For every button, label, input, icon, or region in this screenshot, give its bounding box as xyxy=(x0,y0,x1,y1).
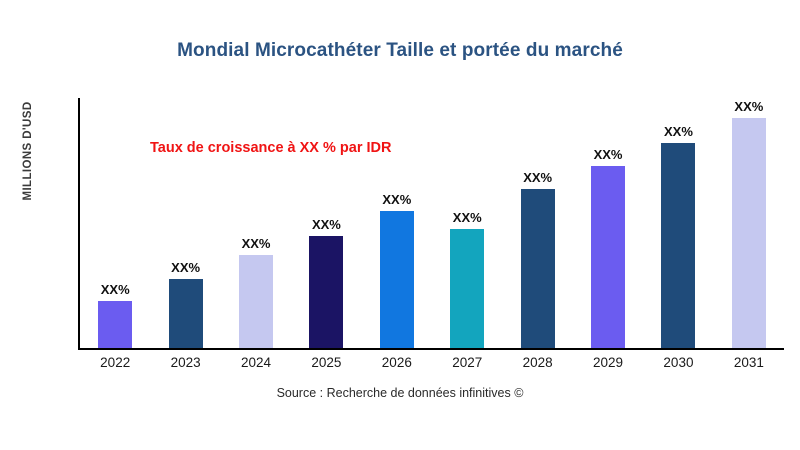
bar-2030[interactable] xyxy=(661,143,695,348)
x-tick-2026: 2026 xyxy=(362,355,432,370)
bar-2028[interactable] xyxy=(521,189,555,348)
bar-group: XX% xyxy=(221,98,291,348)
bar-group: XX% xyxy=(573,98,643,348)
bar-2024[interactable] xyxy=(239,255,273,348)
x-tick-2025: 2025 xyxy=(291,355,361,370)
bar-2029[interactable] xyxy=(591,166,625,348)
bar-value-label: XX% xyxy=(312,218,341,231)
bar-group: XX% xyxy=(432,98,502,348)
bar-value-label: XX% xyxy=(664,125,693,138)
bar-group: XX% xyxy=(291,98,361,348)
x-axis-tick-labels: 2022202320242025202620272028202920302031 xyxy=(80,355,784,370)
source-note: Source : Recherche de données infinitive… xyxy=(0,386,800,400)
bar-value-label: XX% xyxy=(382,193,411,206)
x-tick-2024: 2024 xyxy=(221,355,291,370)
bar-2031[interactable] xyxy=(732,118,766,348)
bar-2023[interactable] xyxy=(169,279,203,348)
bar-group: XX% xyxy=(80,98,150,348)
x-tick-2023: 2023 xyxy=(150,355,220,370)
bar-2025[interactable] xyxy=(309,236,343,348)
x-tick-2031: 2031 xyxy=(714,355,784,370)
bar-2022[interactable] xyxy=(98,301,132,348)
bar-value-label: XX% xyxy=(453,211,482,224)
bar-value-label: XX% xyxy=(242,237,271,250)
bar-group: XX% xyxy=(502,98,572,348)
bar-value-label: XX% xyxy=(594,148,623,161)
bar-value-label: XX% xyxy=(734,100,763,113)
bar-2026[interactable] xyxy=(380,211,414,348)
x-tick-2028: 2028 xyxy=(502,355,572,370)
x-tick-2029: 2029 xyxy=(573,355,643,370)
x-axis-line xyxy=(78,348,784,350)
bar-series: XX%XX%XX%XX%XX%XX%XX%XX%XX%XX% xyxy=(80,98,784,348)
bar-group: XX% xyxy=(362,98,432,348)
y-axis-label: MILLIONS D'USD xyxy=(22,61,34,241)
bar-group: XX% xyxy=(643,98,713,348)
x-tick-2027: 2027 xyxy=(432,355,502,370)
bar-value-label: XX% xyxy=(101,283,130,296)
bar-2027[interactable] xyxy=(450,229,484,348)
bar-group: XX% xyxy=(714,98,784,348)
chart-title: Mondial Microcathéter Taille et portée d… xyxy=(0,40,800,62)
x-tick-2030: 2030 xyxy=(643,355,713,370)
bar-value-label: XX% xyxy=(523,171,552,184)
x-tick-2022: 2022 xyxy=(80,355,150,370)
bar-group: XX% xyxy=(150,98,220,348)
market-size-bar-chart: Mondial Microcathéter Taille et portée d… xyxy=(0,0,800,450)
bar-value-label: XX% xyxy=(171,261,200,274)
plot-area: Taux de croissance à XX % par IDR XX%XX%… xyxy=(78,98,784,350)
